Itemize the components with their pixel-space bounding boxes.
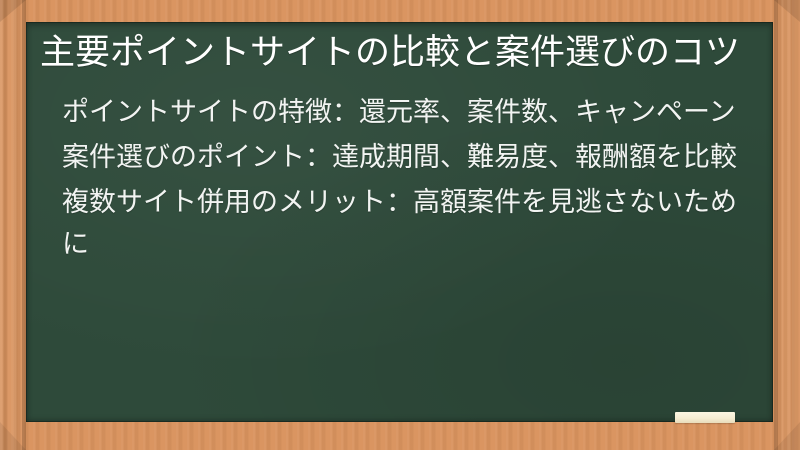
- slide-bullet-item-1: ポイントサイトの特徴：還元率、案件数、キャンペーン: [62, 91, 749, 133]
- slide-bullet-list: ポイントサイトの特徴：還元率、案件数、キャンペーン 案件選びのポイント：達成期間…: [33, 91, 749, 265]
- slide-title-line-1: 主要ポイントサイトの比較と案件選び: [40, 33, 635, 72]
- chalkboard-content: 主要ポイントサイトの比較と案件選びのコツ ポイントサイトの特徴：還元率、案件数、…: [26, 22, 773, 422]
- chalkboard-surface: 主要ポイントサイトの比較と案件選びのコツ ポイントサイトの特徴：還元率、案件数、…: [26, 22, 773, 422]
- slide-title-line-2: のコツ: [635, 33, 740, 72]
- slide-canvas: 主要ポイントサイトの比較と案件選びのコツ ポイントサイトの特徴：還元率、案件数、…: [0, 0, 800, 450]
- slide-bullet-item-3: 複数サイト併用のメリット：高額案件を見逃さないために: [62, 181, 749, 265]
- frame-inner-shadow-right: [774, 0, 778, 450]
- chalk-stick-icon: [675, 412, 735, 423]
- slide-bullet-item-2: 案件選びのポイント：達成期間、難易度、報酬額を比較: [62, 136, 749, 178]
- slide-title: 主要ポイントサイトの比較と案件選びのコツ: [33, 30, 749, 75]
